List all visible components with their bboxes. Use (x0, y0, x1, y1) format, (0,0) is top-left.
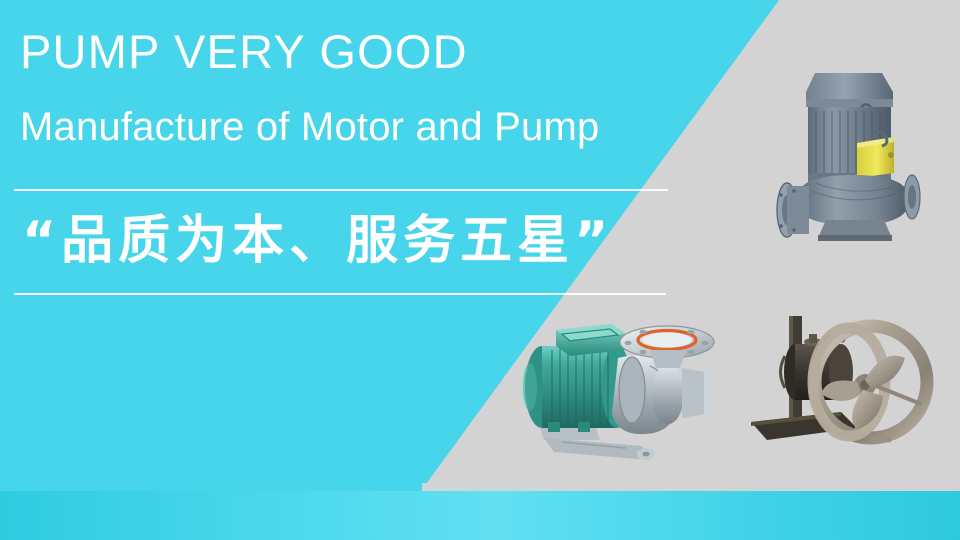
page-subtitle: Manufacture of Motor and Pump (20, 105, 599, 149)
product-image-horizontal-motor-pump (500, 310, 730, 470)
bottom-cyan-band (0, 491, 960, 540)
product-image-submersible-mixer (745, 300, 940, 460)
slogan-text: “品质为本、服务五星” (22, 199, 722, 283)
divider-bottom (14, 293, 666, 295)
promotional-banner: PUMP VERY GOOD Manufacture of Motor and … (0, 0, 960, 540)
divider-top (14, 189, 668, 191)
page-title: PUMP VERY GOOD (20, 27, 468, 76)
product-image-vertical-inline-pump (760, 45, 950, 250)
gray-accent-tab (422, 483, 553, 491)
